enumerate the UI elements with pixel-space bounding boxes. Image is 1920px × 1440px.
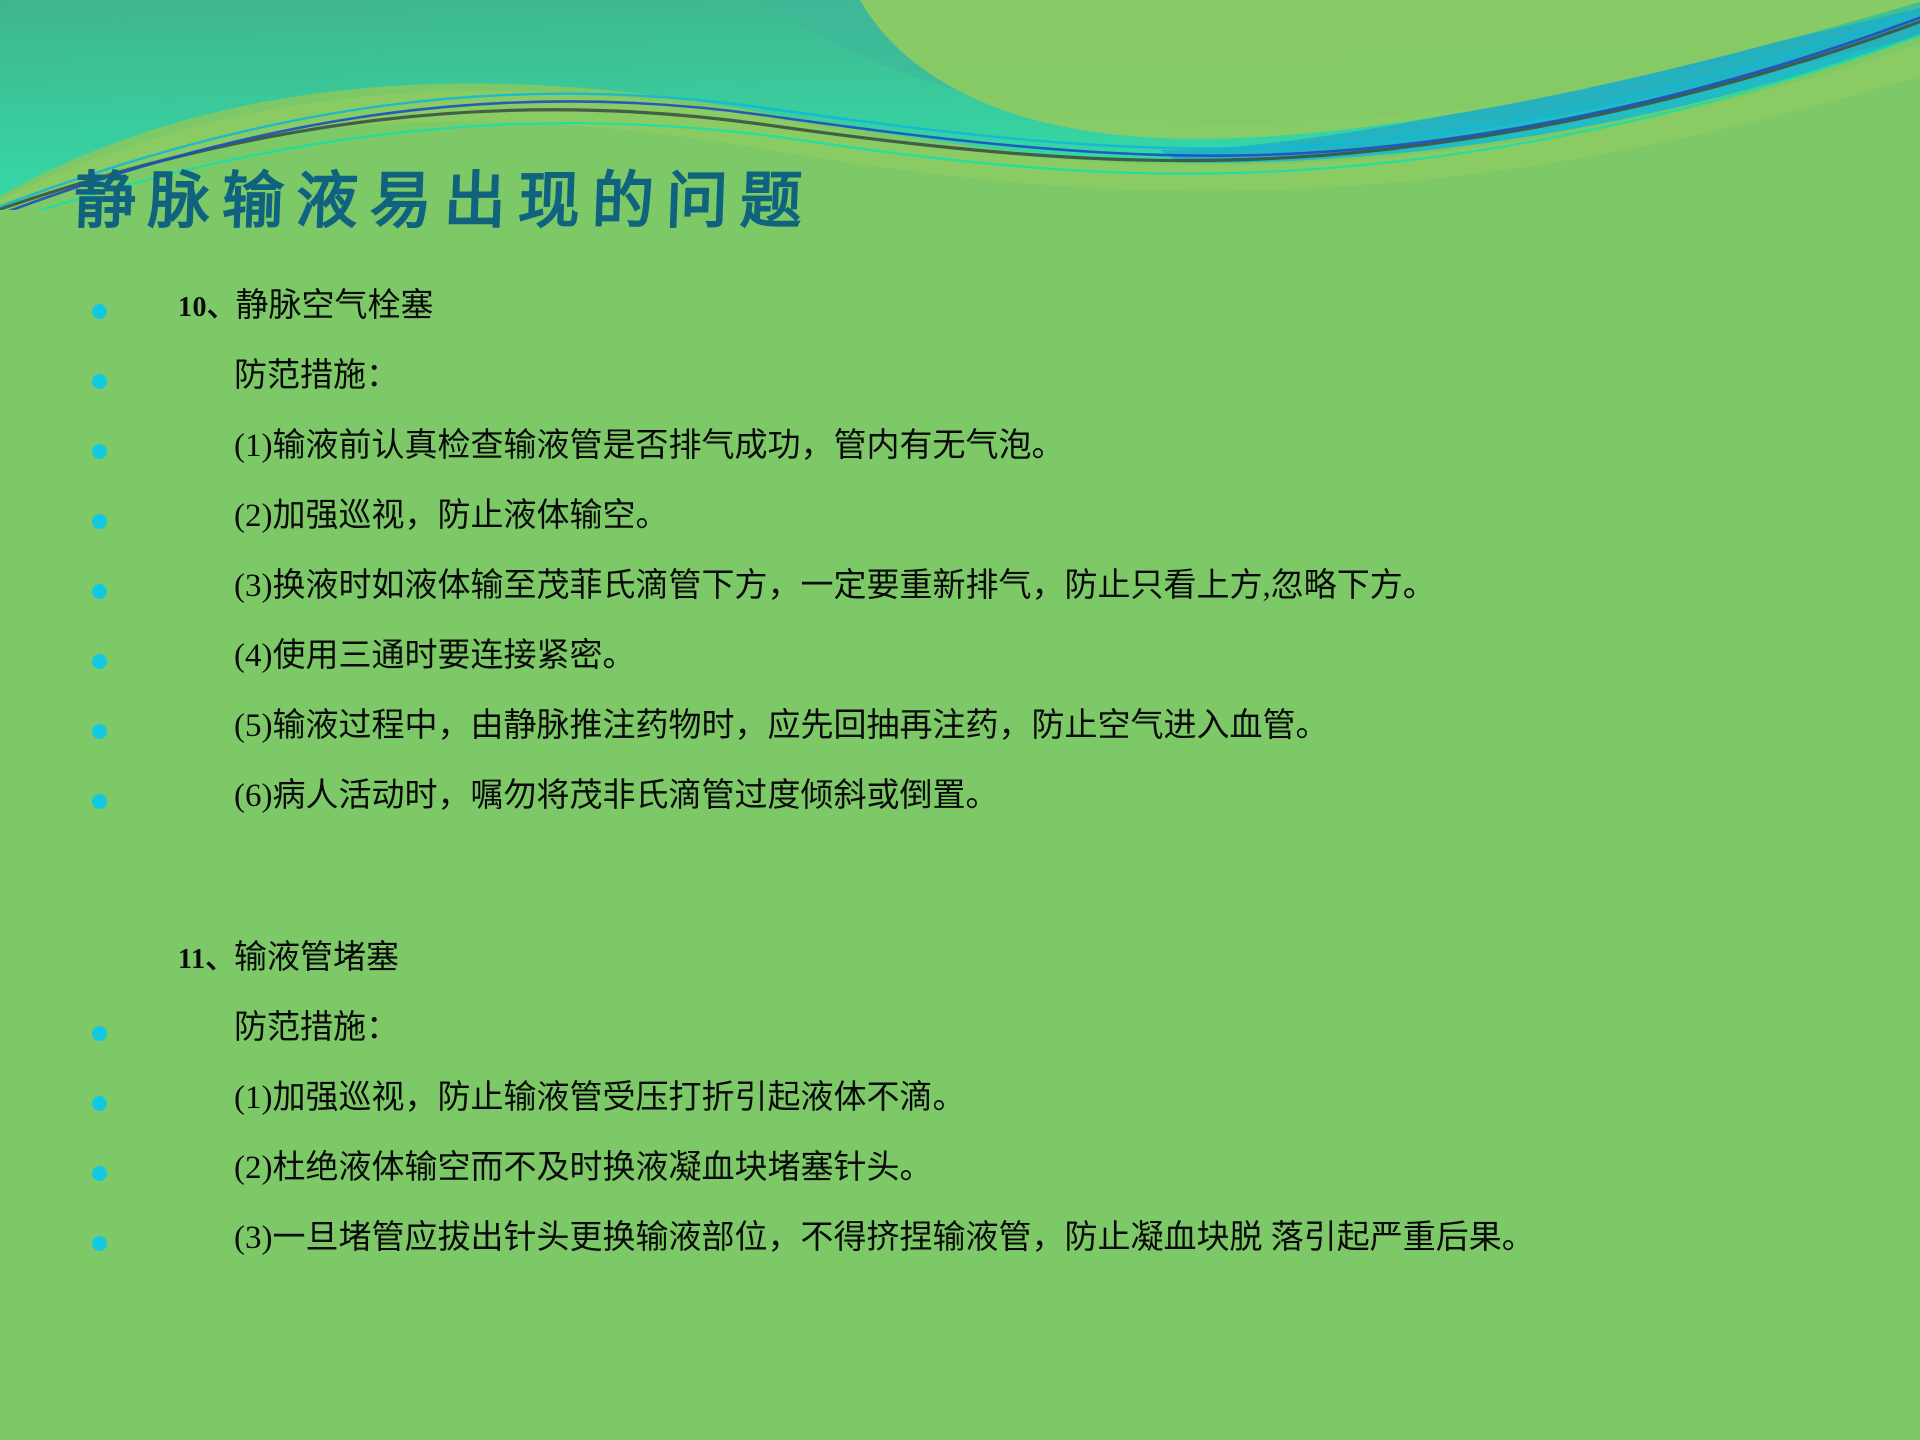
page-title: 静脉输液易出现的问题 bbox=[73, 168, 1575, 233]
list-item-label: (2)杜绝液体输空而不及时换液凝血块堵塞针头。 bbox=[136, 1148, 1920, 1185]
list-item[interactable]: (2)杜绝液体输空而不及时换液凝血块堵塞针头。 bbox=[0, 1148, 1920, 1200]
list-item[interactable]: (2)加强巡视，防止液体输空。 bbox=[0, 496, 1920, 548]
list-item[interactable]: 防范措施： bbox=[0, 1008, 1920, 1060]
bullet-icon bbox=[92, 938, 136, 971]
slide-body: 10、静脉空气栓塞 防范措施： (1)输液前认真检查输液管是否排气成功，管内有无… bbox=[0, 286, 1920, 1288]
list-item-label: (2)加强巡视，防止液体输空。 bbox=[136, 496, 1920, 533]
list-item[interactable]: 11、输液管堵塞 bbox=[0, 938, 1920, 990]
list-item[interactable]: (6)病人活动时，嘱勿将茂非氏滴管过度倾斜或倒置。 bbox=[0, 776, 1920, 828]
list-item-label: (5)输液过程中，由静脉推注药物时，应先回抽再注药，防止空气进入血管。 bbox=[136, 706, 1920, 743]
bullet-icon bbox=[92, 426, 136, 459]
bullet-icon bbox=[92, 706, 136, 739]
list-item-label: (4)使用三通时要连接紧密。 bbox=[136, 636, 1920, 673]
list-item[interactable]: (3)一旦堵管应拔出针头更换输液部位，不得挤捏输液管，防止凝血块脱 落引起严重后… bbox=[0, 1218, 1920, 1270]
list-item[interactable]: (3)换液时如液体输至茂菲氏滴管下方，一定要重新排气，防止只看上方,忽略下方。 bbox=[0, 566, 1920, 618]
list-item-label: (3)一旦堵管应拔出针头更换输液部位，不得挤捏输液管，防止凝血块脱 落引起严重后… bbox=[136, 1218, 1920, 1255]
list-item-label: (3)换液时如液体输至茂菲氏滴管下方，一定要重新排气，防止只看上方,忽略下方。 bbox=[136, 566, 1920, 603]
list-item-label: (6)病人活动时，嘱勿将茂非氏滴管过度倾斜或倒置。 bbox=[136, 776, 1920, 813]
title-block: 静脉输液易出现的问题 bbox=[74, 168, 1574, 233]
slide: 静脉输液易出现的问题 10、静脉空气栓塞 防范措施： (1)输液前认真检查输液管… bbox=[0, 0, 1920, 1440]
bullet-icon bbox=[92, 1148, 136, 1181]
list-item-number: 10、 bbox=[178, 292, 236, 323]
list-item[interactable]: (1)输液前认真检查输液管是否排气成功，管内有无气泡。 bbox=[0, 426, 1920, 478]
bullet-icon bbox=[92, 1078, 136, 1111]
list-item-label: (1)输液前认真检查输液管是否排气成功，管内有无气泡。 bbox=[136, 426, 1920, 463]
bullet-icon bbox=[92, 1008, 136, 1041]
bullet-icon bbox=[92, 776, 136, 809]
list-item[interactable]: 防范措施： bbox=[0, 356, 1920, 408]
bullet-icon bbox=[92, 566, 136, 599]
list-item-label: (1)加强巡视，防止输液管受压打折引起液体不滴。 bbox=[136, 1078, 1920, 1115]
bullet-icon bbox=[92, 286, 136, 319]
list-item-label: 防范措施： bbox=[136, 356, 1920, 393]
section-spacer bbox=[0, 846, 1920, 892]
section-spacer bbox=[0, 892, 1920, 938]
list-item-label: 防范措施： bbox=[136, 1008, 1920, 1045]
list-item-number: 11、 bbox=[178, 944, 234, 975]
list-item-label: 输液管堵塞 bbox=[234, 940, 399, 976]
list-item-label: 静脉空气栓塞 bbox=[236, 288, 434, 324]
bullet-icon bbox=[92, 636, 136, 669]
list-item[interactable]: (1)加强巡视，防止输液管受压打折引起液体不滴。 bbox=[0, 1078, 1920, 1130]
list-item[interactable]: (4)使用三通时要连接紧密。 bbox=[0, 636, 1920, 688]
section-tubing-occlusion: 11、输液管堵塞 防范措施： (1)加强巡视，防止输液管受压打折引起液体不滴。 … bbox=[0, 938, 1920, 1270]
list-item[interactable]: 10、静脉空气栓塞 bbox=[0, 286, 1920, 338]
list-item[interactable]: (5)输液过程中，由静脉推注药物时，应先回抽再注药，防止空气进入血管。 bbox=[0, 706, 1920, 758]
bullet-icon bbox=[92, 496, 136, 529]
section-air-embolism: 10、静脉空气栓塞 防范措施： (1)输液前认真检查输液管是否排气成功，管内有无… bbox=[0, 286, 1920, 828]
bullet-icon bbox=[92, 356, 136, 389]
bullet-icon bbox=[92, 1218, 136, 1251]
